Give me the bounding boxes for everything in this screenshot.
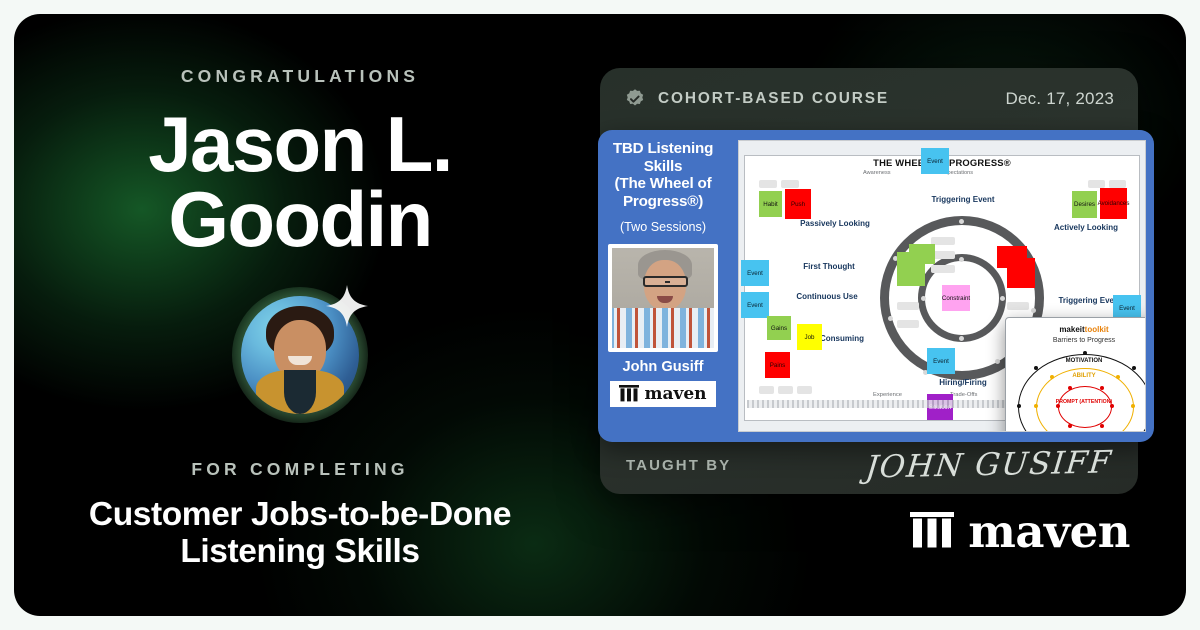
- barriers-to-progress-inset: makeittoolkit Barriers to Progress MOTIV…: [1005, 317, 1146, 432]
- for-completing-label: FOR COMPLETING: [191, 459, 408, 480]
- sticky-event-left-2: Event: [741, 292, 769, 318]
- cohort-based-course-label: COHORT-BASED COURSE: [658, 90, 889, 108]
- diagram-note-tradeoffs: Trade-Offs: [950, 392, 977, 398]
- slide-maven-wordmark: maven: [644, 384, 706, 404]
- makeittoolkit-brand: makeittoolkit: [1006, 325, 1146, 334]
- slide-maven-logo: maven: [610, 381, 716, 407]
- certificate-left-column: CONGRATULATIONS Jason L. Goodin FOR COMP…: [14, 14, 586, 616]
- sticky-avoidances: Avoidances: [1100, 188, 1127, 219]
- course-date: Dec. 17, 2023: [1006, 89, 1114, 109]
- instructor-name: John Gusiff: [602, 359, 724, 375]
- diagram-label-first-thought: First Thought: [793, 263, 865, 272]
- diagram-label-triggering-event-top: Triggering Event: [913, 196, 1013, 205]
- sticky-event-top: Event: [921, 148, 949, 174]
- sticky-habit: Habit: [759, 191, 782, 217]
- maven-footer-logo: maven: [910, 505, 1130, 558]
- diagram-label-continuous-use: Continuous Use: [787, 293, 867, 302]
- certificate-right-column: COHORT-BASED COURSE Dec. 17, 2023 TBD Li…: [586, 14, 1186, 616]
- slide-subtitle: (Two Sessions): [602, 220, 724, 234]
- diagram-label-passively-looking: Passively Looking: [799, 220, 871, 229]
- inset-title: Barriers to Progress: [1006, 337, 1146, 344]
- sticky-push: Push: [785, 189, 811, 219]
- wheel-of-progress-diagram: THE WHEEL OF PROGRESS® Awareness Expecta…: [738, 140, 1146, 432]
- course-slide: TBD Listening Skills (The Wheel of Progr…: [598, 130, 1154, 442]
- maven-pillar-icon: [910, 512, 954, 552]
- taught-by-label: TAUGHT BY: [626, 457, 731, 474]
- avatar-image: [241, 296, 359, 414]
- inset-label-ability: ABILITY: [1006, 373, 1146, 379]
- sticky-constraint: Constraint: [942, 285, 970, 311]
- verified-check-icon: [624, 88, 646, 110]
- course-preview-card[interactable]: COHORT-BASED COURSE Dec. 17, 2023 TBD Li…: [600, 68, 1138, 494]
- slide-left-panel: TBD Listening Skills (The Wheel of Progr…: [598, 130, 730, 442]
- course-card-header: COHORT-BASED COURSE Dec. 17, 2023: [600, 68, 1138, 130]
- sticky-job: Job: [797, 324, 822, 350]
- certificate-page: CONGRATULATIONS Jason L. Goodin FOR COMP…: [0, 0, 1200, 630]
- instructor-signature: JOHN GUSIFF: [864, 444, 1114, 485]
- maven-wordmark: maven: [968, 505, 1130, 558]
- instructor-headshot: [608, 244, 718, 352]
- sticky-pains: Pains: [765, 352, 790, 378]
- sticky-event-bottom: Event: [927, 348, 955, 374]
- diagram-label-actively-looking: Actively Looking: [1049, 224, 1123, 233]
- diagram-label-hiring-firing: Hiring/Firing: [917, 379, 1009, 388]
- course-title: Customer Jobs-to-be-Done Listening Skill…: [65, 496, 535, 571]
- congratulations-label: CONGRATULATIONS: [181, 66, 419, 87]
- avatar: [232, 287, 368, 423]
- diagram-note-awareness: Awareness: [863, 170, 891, 176]
- diagram-note-experience: Experience: [873, 392, 902, 398]
- sticky-desires: Desires: [1072, 191, 1097, 218]
- inset-label-prompt: PROMPT (ATTENTION): [1006, 400, 1146, 406]
- inset-ring-prompt: [1058, 386, 1112, 428]
- slide-title: TBD Listening Skills (The Wheel of Progr…: [602, 140, 724, 211]
- sticky-gains: Gains: [767, 316, 791, 340]
- inset-label-motivation: MOTIVATION: [1006, 358, 1146, 364]
- recipient-name: Jason L. Goodin: [70, 107, 530, 257]
- sticky-event-left-1: Event: [741, 260, 769, 286]
- course-card-footer: TAUGHT BY JOHN GUSIFF: [600, 436, 1138, 494]
- maven-pillar-icon: [619, 385, 639, 403]
